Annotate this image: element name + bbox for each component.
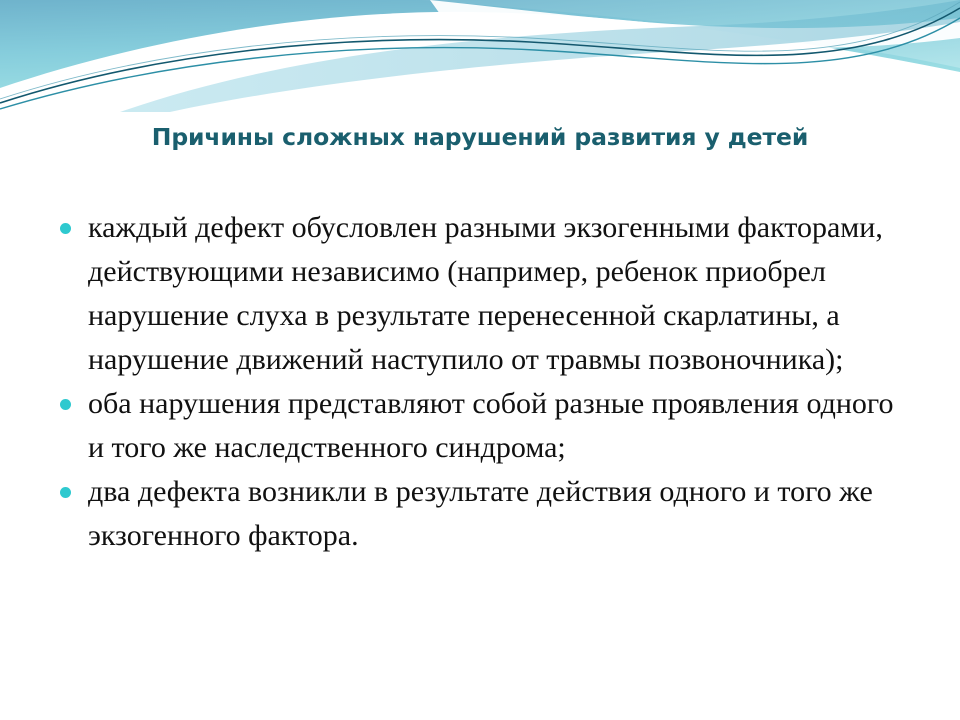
bullet-item: два дефекта возникли в результате действ… bbox=[56, 470, 916, 558]
wave-line-faint bbox=[0, 2, 960, 99]
bullet-item: каждый дефект обусловлен разными экзоген… bbox=[56, 206, 916, 382]
banner-secondary-band bbox=[420, 0, 960, 68]
white-body-fill bbox=[0, 12, 960, 112]
circle-bullet-icon bbox=[60, 487, 71, 498]
header-wave-decoration bbox=[0, 0, 960, 112]
banner-background-band bbox=[0, 0, 960, 112]
slide-title: Причины сложных нарушений развития у дет… bbox=[0, 123, 960, 151]
circle-bullet-icon bbox=[60, 223, 71, 234]
translucent-ribbon bbox=[120, 0, 960, 112]
presentation-slide: Причины сложных нарушений развития у дет… bbox=[0, 0, 960, 720]
bullet-item: оба нарушения представляют собой разные … bbox=[56, 382, 916, 470]
wave-banner-graphic bbox=[0, 0, 960, 112]
bullet-text: оба нарушения представляют собой разные … bbox=[88, 382, 916, 470]
bullet-list: каждый дефект обусловлен разными экзоген… bbox=[56, 206, 916, 558]
wave-line-teal bbox=[0, 18, 960, 109]
white-swoosh-lower bbox=[0, 32, 960, 112]
bullet-text: каждый дефект обусловлен разными экзоген… bbox=[88, 206, 916, 382]
wave-line-dark bbox=[0, 8, 960, 103]
white-streak-upper-right bbox=[430, 0, 960, 48]
bullet-text: два дефекта возникли в результате действ… bbox=[88, 470, 916, 558]
circle-bullet-icon bbox=[60, 399, 71, 410]
